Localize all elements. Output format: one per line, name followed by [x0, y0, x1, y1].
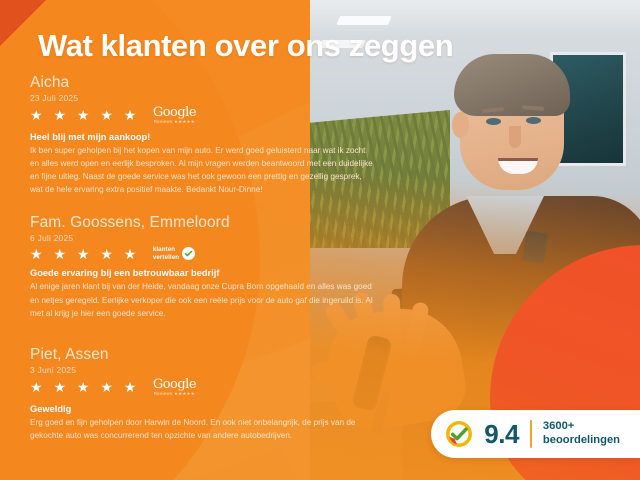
google-wordmark: Google [153, 106, 196, 119]
google-reviews-logo: Google Reviews ★★★★★ [153, 106, 196, 125]
review-heading: Goede ervaring bij een betrouwbaar bedri… [30, 268, 390, 278]
star-rating: ★ ★ ★ ★ ★ [30, 247, 140, 261]
review-count: 3600+ beoordelingen [543, 420, 620, 447]
review-card: Piet, Assen 3 Juni 2025 ★ ★ ★ ★ ★ Google… [30, 346, 390, 442]
google-wordmark: Google [153, 378, 196, 391]
review-heading: Heel blij met mijn aankoop! [30, 132, 390, 142]
kv-line-2: vertellen [153, 254, 179, 262]
verified-check-icon [182, 247, 195, 260]
review-meta: ★ ★ ★ ★ ★ Google Reviews ★★★★★ [30, 106, 390, 125]
google-reviews-subtext: Reviews ★★★★★ [154, 120, 195, 124]
review-date: 3 Juni 2025 [30, 365, 390, 375]
review-count-label: beoordelingen [543, 434, 620, 448]
star-rating: ★ ★ ★ ★ ★ [30, 380, 140, 394]
review-card: Fam. Goossens, Emmeloord 6 Juli 2025 ★ ★… [30, 214, 390, 320]
reviewer-name: Aicha [30, 74, 390, 92]
review-date: 6 Juli 2025 [30, 233, 390, 243]
review-count-number: 3600+ [543, 420, 620, 434]
klantenvertellen-seal-icon [445, 420, 473, 448]
review-meta: ★ ★ ★ ★ ★ Google Reviews ★★★★★ [30, 378, 390, 397]
reviewer-name: Fam. Goossens, Emmeloord [30, 214, 390, 232]
klantenvertellen-wordmark: klanten vertellen [153, 246, 179, 262]
review-body: Erg goed en fijn geholpen door Harwin de… [30, 416, 375, 443]
review-meta: ★ ★ ★ ★ ★ klanten vertellen [30, 246, 390, 262]
star-rating: ★ ★ ★ ★ ★ [30, 108, 140, 122]
review-body: Al enige jaren klant bij van der Heide, … [30, 280, 375, 320]
google-reviews-logo: Google Reviews ★★★★★ [153, 378, 196, 397]
page-title: Wat klanten over ons zeggen [38, 28, 453, 64]
overall-score-badge[interactable]: 9.4 3600+ beoordelingen [431, 410, 640, 458]
score-value: 9.4 [484, 421, 519, 447]
testimonials-banner: VDH Wat klanten over ons zeggen Aicha 23… [0, 0, 640, 480]
review-heading: Geweldig [30, 404, 390, 414]
review-card: Aicha 23 Juli 2025 ★ ★ ★ ★ ★ Google Revi… [30, 74, 390, 197]
klantenvertellen-logo: klanten vertellen [153, 246, 195, 262]
google-reviews-subtext: Reviews ★★★★★ [154, 392, 195, 396]
reviewer-name: Piet, Assen [30, 346, 390, 364]
review-body: Ik ben super geholpen bij het kopen van … [30, 144, 375, 197]
review-date: 23 Juli 2025 [30, 93, 390, 103]
badge-divider [530, 420, 532, 448]
kv-line-1: klanten [153, 246, 179, 254]
